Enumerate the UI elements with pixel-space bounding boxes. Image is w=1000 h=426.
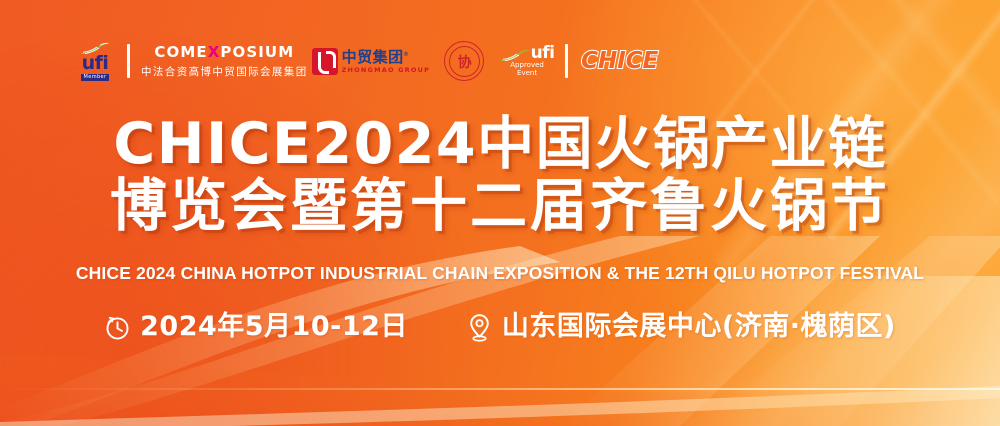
ufi-wordmark: ufi [82,54,109,73]
event-date-text: 2024年5月10-12日 [140,312,408,342]
ufi-wordmark: ufi [531,45,555,61]
chice-logo: CHICE [581,48,658,74]
comexposium-part1: COME [154,43,207,61]
logo-divider [565,44,568,78]
partner-logo-strip: ufi Member COMEXPOSIUM 中法合资高博中贸国际会展集团 中贸… [74,32,658,90]
ufi-member-logo: ufi Member [74,42,116,81]
zhongmao-chinese-text: 中贸集团 [342,49,404,66]
comexposium-wordmark: COMEXPOSIUM [154,43,294,61]
event-title: CHICE2024中国火锅产业链 博览会暨第十二届齐鲁火锅节 [0,113,1000,237]
ufi-member-label: Member [81,74,110,81]
banner-content: ufi Member COMEXPOSIUM 中法合资高博中贸国际会展集团 中贸… [0,0,1000,426]
event-banner: ufi Member COMEXPOSIUM 中法合资高博中贸国际会展集团 中贸… [0,0,1000,426]
red-seal-emblem: 协 [444,41,484,81]
zhongmao-english-name: ZHONGMAO GROUP [342,66,430,74]
title-line-1: CHICE2024中国火锅产业链 [0,113,1000,175]
zhongmao-mark-icon [312,48,338,75]
seal-glyph: 协 [458,55,471,69]
comexposium-chinese-name: 中法合资高博中贸国际会展集团 [141,64,308,79]
zhongmao-group-logo: 中贸集团® ZHONGMAO GROUP [312,48,430,75]
event-subtitle-english: CHICE 2024 CHINA HOTPOT INDUSTRIAL CHAIN… [0,263,1000,284]
ufi-approved-label-line2: Event [517,69,537,77]
ufi-approved-event-logo: ufi Approved Event [500,45,554,77]
event-venue-text: 山东国际会展中心(济南·槐荫区) [502,312,896,342]
comexposium-x-mark: X [208,43,221,61]
map-pin-icon [466,313,493,342]
event-date: 2024年5月10-12日 [104,312,408,342]
comexposium-logo: COMEXPOSIUM 中法合资高博中贸国际会展集团 [141,43,308,79]
event-venue: 山东国际会展中心(济南·槐荫区) [466,312,896,342]
ufi-approved-label-line1: Approved [510,61,544,69]
zhongmao-chinese-name: 中贸集团® [342,48,430,65]
event-info-row: 2024年5月10-12日 山东国际会展中心(济南·槐荫区) [0,312,1000,342]
logo-divider [127,44,130,78]
clock-icon [104,314,131,341]
comexposium-part2: POSIUM [220,43,294,61]
registered-mark: ® [404,52,409,58]
title-line-2: 博览会暨第十二届齐鲁火锅节 [0,175,1000,237]
